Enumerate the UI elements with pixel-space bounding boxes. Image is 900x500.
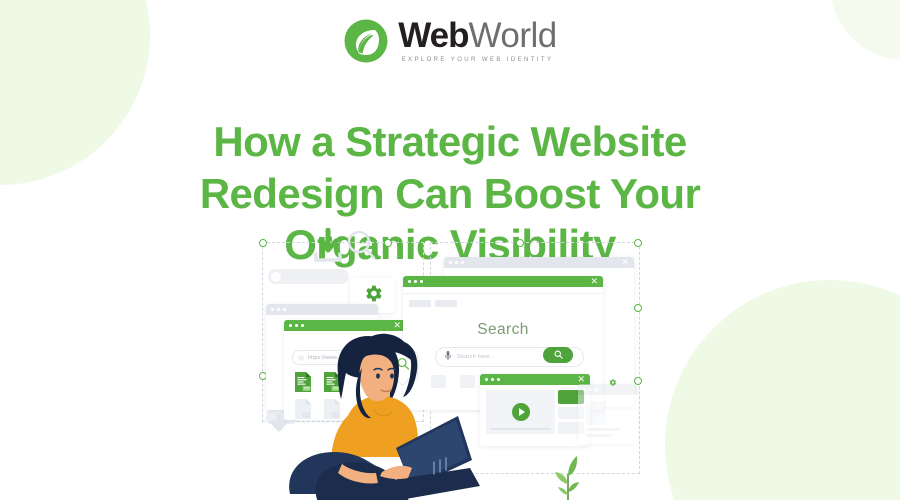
window-dot <box>455 261 458 264</box>
woman-with-laptop-illustration <box>278 322 488 500</box>
window-dot <box>595 388 598 391</box>
hero-illustration: ✕ ✕ https://www. <box>248 232 652 500</box>
video-browser-window[interactable]: ✕ <box>480 374 590 446</box>
video-window-body <box>480 385 590 446</box>
headline-line-1: How a Strategic Website <box>90 116 810 168</box>
leaf-circle-logo-icon <box>343 18 389 64</box>
tab-stub[interactable] <box>409 300 431 307</box>
window-dot <box>414 280 417 283</box>
play-triangle-icon <box>519 408 525 416</box>
pill-dot-icon <box>271 272 281 282</box>
brand-logo[interactable]: Web World EXPLORE YOUR WEB IDENTITY <box>0 18 900 64</box>
text-line-stub <box>586 428 620 431</box>
video-player[interactable] <box>486 390 555 434</box>
window-dot <box>491 378 494 381</box>
window-dot <box>497 378 500 381</box>
close-x-icon[interactable]: ✕ <box>590 277 598 286</box>
window-dot <box>420 280 423 283</box>
window-dot <box>271 308 274 311</box>
magnifier-icon <box>554 346 563 364</box>
window-titlebar[interactable]: ✕ <box>403 276 603 287</box>
poster-canvas: Web World EXPLORE YOUR WEB IDENTITY How … <box>0 0 900 500</box>
window-dot <box>408 280 411 283</box>
window-dot <box>449 261 452 264</box>
plant-sprout-icon <box>544 450 590 500</box>
ghost-search-pill <box>268 269 349 284</box>
download-arrow-icon <box>308 228 348 269</box>
window-titlebar[interactable]: ✕ <box>480 374 590 385</box>
background-browser-window-small[interactable] <box>578 384 638 444</box>
tab-stub[interactable] <box>435 300 457 307</box>
thumbnail-placeholder <box>586 401 606 425</box>
brand-name-part1: Web <box>398 18 468 53</box>
headline-line-2: Redesign Can Boost Your <box>90 168 810 220</box>
play-button-icon[interactable] <box>512 403 530 421</box>
search-submit-button[interactable] <box>543 347 573 363</box>
window-dot <box>283 308 286 311</box>
window-divider <box>403 293 603 294</box>
window-titlebar[interactable]: ✕ <box>444 257 634 268</box>
video-progress-bar[interactable] <box>490 428 551 430</box>
selection-handle[interactable] <box>516 239 524 247</box>
text-line-stub <box>586 434 612 437</box>
selection-handle[interactable] <box>634 304 642 312</box>
magnifier-icon <box>344 228 378 269</box>
gear-icon <box>608 374 617 392</box>
small-window-body <box>578 395 638 444</box>
brand-wordmark: Web World EXPLORE YOUR WEB IDENTITY <box>398 18 557 63</box>
brand-name-part2: World <box>468 18 556 53</box>
selection-handle[interactable] <box>384 239 392 247</box>
background-blob-bottom-right <box>665 280 900 500</box>
close-x-icon[interactable]: ✕ <box>577 375 585 384</box>
close-x-icon[interactable]: ✕ <box>621 258 629 267</box>
window-dot <box>277 308 280 311</box>
selection-handle[interactable] <box>259 239 267 247</box>
window-titlebar[interactable] <box>266 304 378 315</box>
selection-handle[interactable] <box>634 239 642 247</box>
window-dot <box>583 388 586 391</box>
window-dot <box>461 261 464 264</box>
window-dot <box>589 388 592 391</box>
brand-tagline: EXPLORE YOUR WEB IDENTITY <box>398 57 557 63</box>
